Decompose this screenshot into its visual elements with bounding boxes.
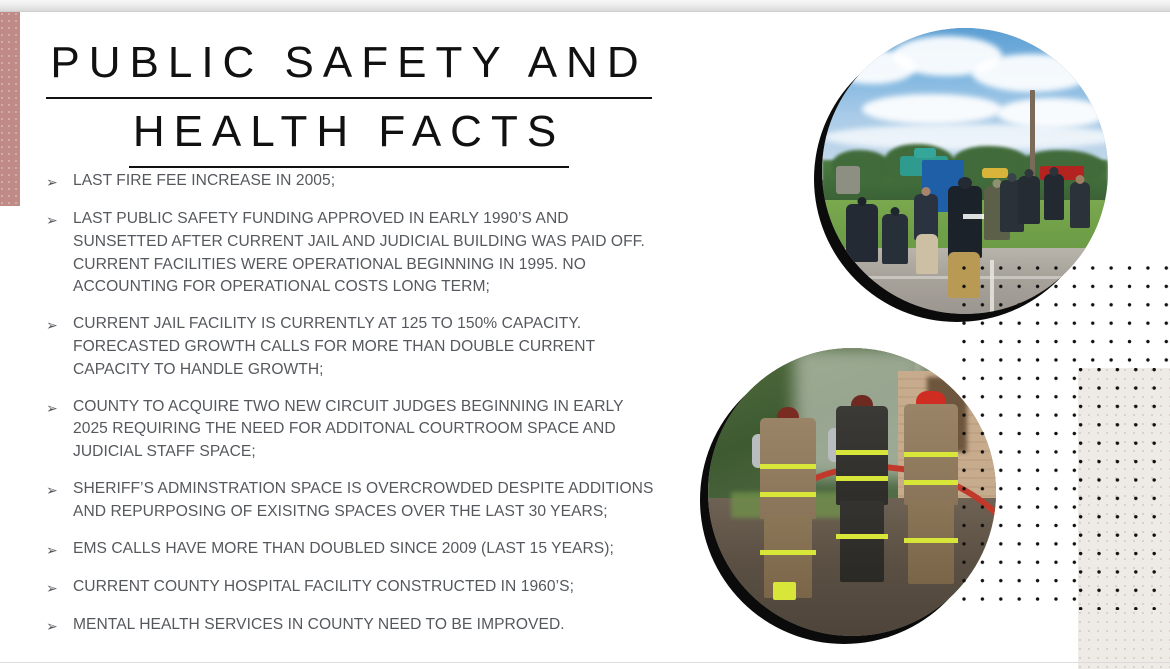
list-item: ➢ CURRENT JAIL FACILITY IS CURRENTLY AT … — [46, 313, 656, 381]
person-legs — [916, 234, 938, 274]
sheriff-text-patch — [963, 214, 985, 219]
person-head — [922, 187, 931, 196]
reflective-stripe — [760, 492, 816, 497]
list-item: ➢ EMS CALLS HAVE MORE THAN DOUBLED SINCE… — [46, 538, 656, 562]
reflective-stripe — [904, 452, 958, 457]
rose-accent-bar — [0, 12, 20, 206]
list-item: ➢ CURRENT COUNTY HOSPITAL FACILITY CONST… — [46, 576, 656, 600]
list-item-text: CURRENT JAIL FACILITY IS CURRENTLY AT 12… — [73, 313, 656, 381]
person — [1018, 176, 1040, 224]
yellow-equipment — [982, 168, 1008, 178]
list-item-text: EMS CALLS HAVE MORE THAN DOUBLED SINCE 2… — [73, 538, 656, 561]
dot-grid-overlay-decoration — [1078, 368, 1170, 610]
person — [1044, 174, 1064, 220]
turnout-pants — [840, 501, 884, 582]
person — [1070, 182, 1090, 228]
title-line-1: PUBLIC SAFETY AND — [46, 32, 651, 99]
turnout-coat — [836, 406, 888, 505]
reflective-stripe — [760, 464, 816, 469]
reflective-stripe — [836, 450, 888, 455]
photo-scene — [708, 348, 996, 636]
list-item: ➢ LAST FIRE FEE INCREASE IN 2005; — [46, 170, 656, 194]
list-item: ➢ LAST PUBLIC SAFETY FUNDING APPROVED IN… — [46, 208, 656, 299]
list-item-text: COUNTY TO ACQUIRE TWO NEW CIRCUIT JUDGES… — [73, 396, 656, 464]
cloud — [997, 98, 1107, 128]
list-item-text: CURRENT COUNTY HOSPITAL FACILITY CONSTRU… — [73, 576, 656, 599]
boot — [773, 582, 795, 600]
person-head — [1076, 175, 1085, 184]
cloud — [822, 124, 1108, 150]
person-head — [891, 207, 900, 216]
arrow-bullet-icon: ➢ — [46, 538, 73, 562]
firefighter — [836, 406, 888, 582]
arrow-bullet-icon: ➢ — [46, 396, 73, 420]
person-deputy — [948, 186, 982, 258]
playground-canopy — [914, 148, 936, 158]
reflective-stripe — [836, 476, 888, 481]
list-item-text: LAST FIRE FEE INCREASE IN 2005; — [73, 170, 656, 193]
window-top-strip — [0, 0, 1170, 12]
cloud — [862, 94, 1002, 124]
reflective-stripe — [836, 534, 888, 539]
cloud — [972, 54, 1092, 92]
arrow-bullet-icon: ➢ — [46, 208, 73, 232]
title-line-2: HEALTH FACTS — [129, 101, 569, 168]
reflective-stripe — [904, 538, 958, 543]
person — [882, 214, 908, 264]
arrow-bullet-icon: ➢ — [46, 478, 73, 502]
facts-bullet-list: ➢ LAST FIRE FEE INCREASE IN 2005; ➢ LAST… — [46, 170, 656, 652]
firefighter — [760, 418, 816, 598]
arrow-bullet-icon: ➢ — [46, 576, 73, 600]
person-head — [958, 177, 972, 189]
list-item: ➢ MENTAL HEALTH SERVICES IN COUNTY NEED … — [46, 614, 656, 638]
firefighters-training-photo — [708, 348, 996, 636]
slide-canvas: PUBLIC SAFETY AND HEALTH FACTS ➢ LAST FI… — [0, 0, 1170, 669]
list-item: ➢ SHERIFF’S ADMINSTRATION SPACE IS OVERC… — [46, 478, 656, 524]
bottom-divider — [0, 662, 1170, 663]
list-item-text: LAST PUBLIC SAFETY FUNDING APPROVED IN E… — [73, 208, 656, 299]
page-title: PUBLIC SAFETY AND HEALTH FACTS — [34, 32, 664, 168]
arrow-bullet-icon: ➢ — [46, 170, 73, 194]
list-item-text: MENTAL HEALTH SERVICES IN COUNTY NEED TO… — [73, 614, 656, 637]
list-item: ➢ COUNTY TO ACQUIRE TWO NEW CIRCUIT JUDG… — [46, 396, 656, 464]
arrow-bullet-icon: ➢ — [46, 614, 73, 638]
firefighter — [904, 404, 958, 584]
reflective-stripe — [904, 480, 958, 485]
arrow-bullet-icon: ➢ — [46, 313, 73, 337]
person-head — [1025, 169, 1034, 178]
list-item-text: SHERIFF’S ADMINSTRATION SPACE IS OVERCRO… — [73, 478, 656, 524]
person — [846, 204, 878, 262]
person-head — [1008, 173, 1017, 182]
person-head — [1050, 167, 1059, 176]
gray-container — [836, 166, 860, 194]
person-head — [858, 197, 867, 206]
reflective-stripe — [760, 550, 816, 555]
